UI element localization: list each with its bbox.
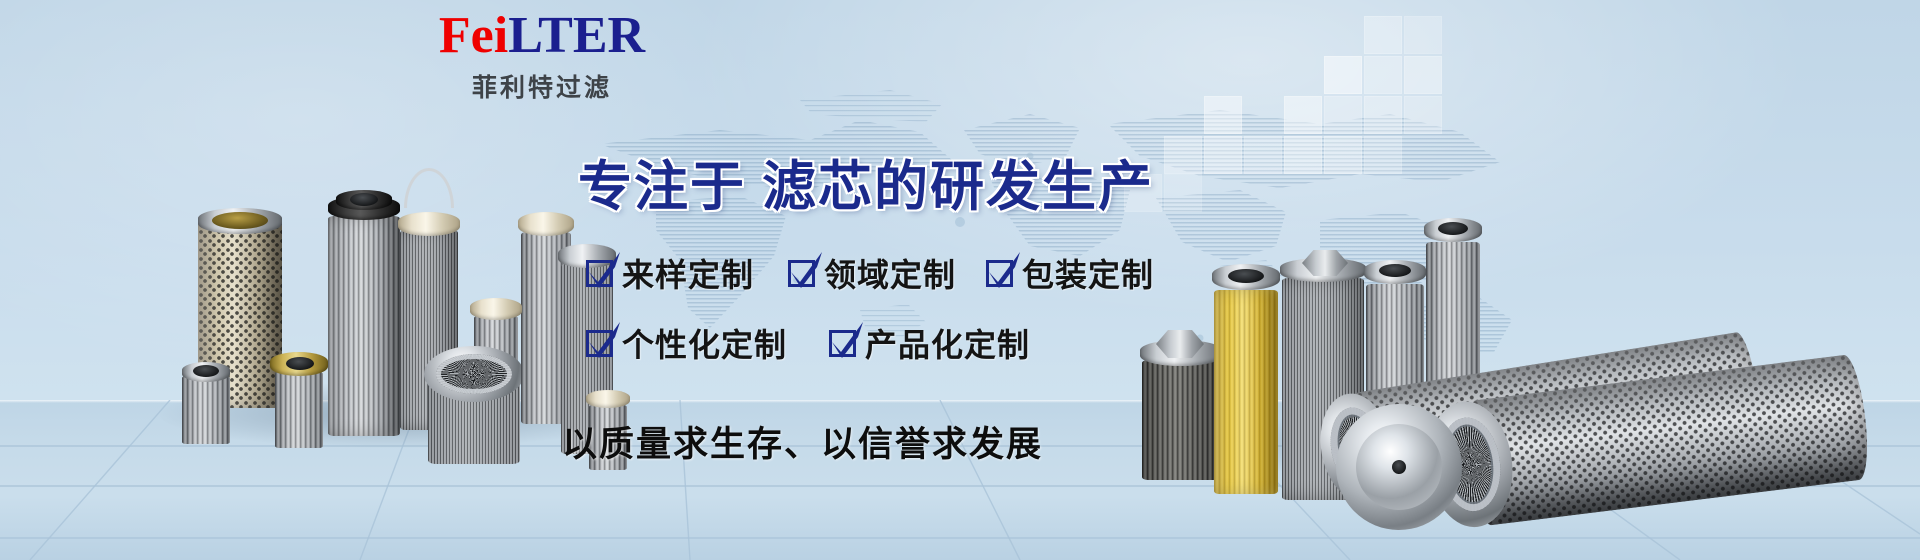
- feature-label: 来样定制: [622, 250, 754, 296]
- logo-chinese-name: 菲利特过滤: [392, 68, 692, 104]
- feature-label: 个性化定制: [622, 320, 787, 366]
- checkbox-checked-icon: [586, 260, 613, 287]
- checkbox-checked-icon: [788, 260, 815, 287]
- logo-wordmark-red: Fei: [439, 7, 508, 64]
- filter-cartridge-open-end-large: [424, 346, 524, 464]
- feature-item-packaging-customization[interactable]: 包装定制: [986, 250, 1154, 296]
- feature-label: 包装定制: [1022, 250, 1154, 296]
- logo-wordmark: FeiLTER: [392, 8, 692, 64]
- feature-item-sample-customization[interactable]: 来样定制: [586, 250, 754, 296]
- feature-label: 产品化定制: [865, 320, 1030, 366]
- feature-label: 领域定制: [824, 250, 956, 296]
- filter-cartridge-small-front-left: [182, 362, 230, 444]
- feature-row-1: 来样定制 领域定制 包装定制: [586, 245, 1154, 301]
- bottom-slogan: 以质量求生存、以信誉求发展: [562, 416, 1043, 467]
- promo-banner: FeiLTER 菲利特过滤 专注于滤芯的研发生产 来样定制 领域定制: [0, 0, 1920, 560]
- checkbox-checked-icon: [586, 330, 613, 357]
- product-cluster-right: [1140, 160, 1920, 460]
- headline-lead: 专注于: [578, 157, 746, 217]
- headline-rest: 滤芯的研发生产: [762, 157, 1154, 217]
- product-cluster-left: [170, 130, 610, 430]
- checkbox-checked-icon: [829, 330, 856, 357]
- filter-end-flange-disc: [1336, 404, 1462, 530]
- filter-cartridge-brass-flange: [270, 352, 328, 448]
- filter-cartridge-yellow-pleated: [1212, 264, 1280, 494]
- feature-checklist: 来样定制 领域定制 包装定制 个性化定制: [586, 245, 1154, 371]
- headline: 专注于滤芯的研发生产: [578, 142, 1154, 221]
- checkbox-checked-icon: [986, 260, 1013, 287]
- logo-wordmark-blue: LTER: [508, 7, 645, 64]
- filter-cartridge-black-cap-tall: [328, 190, 400, 436]
- feature-item-field-customization[interactable]: 领域定制: [788, 250, 956, 296]
- feature-item-personalized-customization[interactable]: 个性化定制: [586, 320, 787, 366]
- feature-row-2: 个性化定制 产品化定制: [586, 315, 1154, 371]
- brand-logo[interactable]: FeiLTER 菲利特过滤: [392, 8, 692, 104]
- feature-item-productized-customization[interactable]: 产品化定制: [829, 320, 1030, 366]
